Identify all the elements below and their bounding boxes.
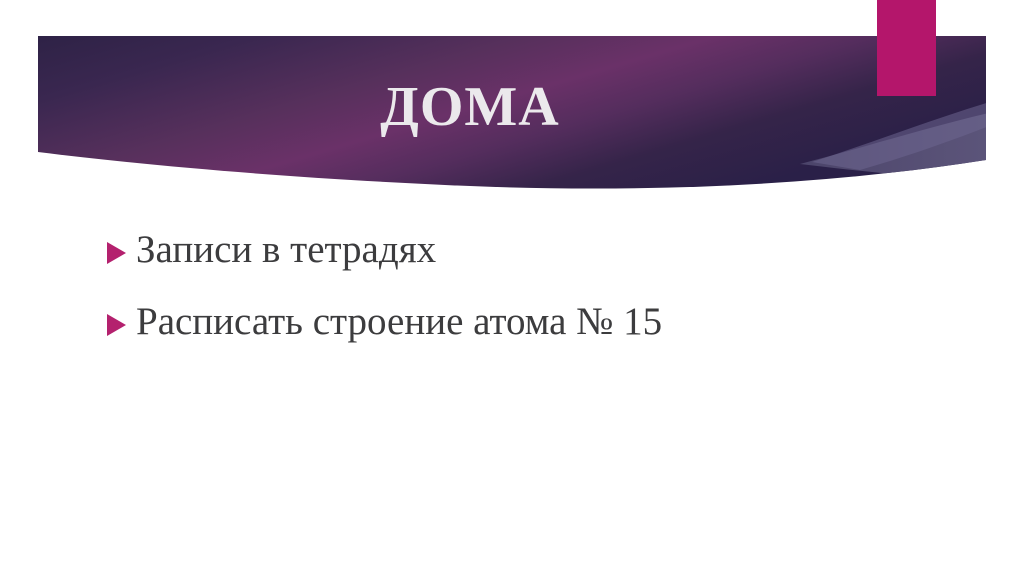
title-banner: ДОМА <box>0 0 1024 200</box>
list-item: Записи в тетрадях <box>100 222 860 278</box>
list-item-label: Расписать строение атома № 15 <box>136 294 860 350</box>
list-item: Расписать строение атома № 15 <box>100 294 860 350</box>
bullet-list: Записи в тетрадях Расписать строение ато… <box>100 222 860 366</box>
triangle-right-bullet-icon <box>100 294 134 338</box>
triangle-right-bullet-icon <box>100 222 134 266</box>
page-title: ДОМА <box>0 78 940 136</box>
list-item-label: Записи в тетрадях <box>136 222 860 278</box>
presentation-slide: ДОМА Записи в тетрадях Расписать строени… <box>0 0 1024 574</box>
